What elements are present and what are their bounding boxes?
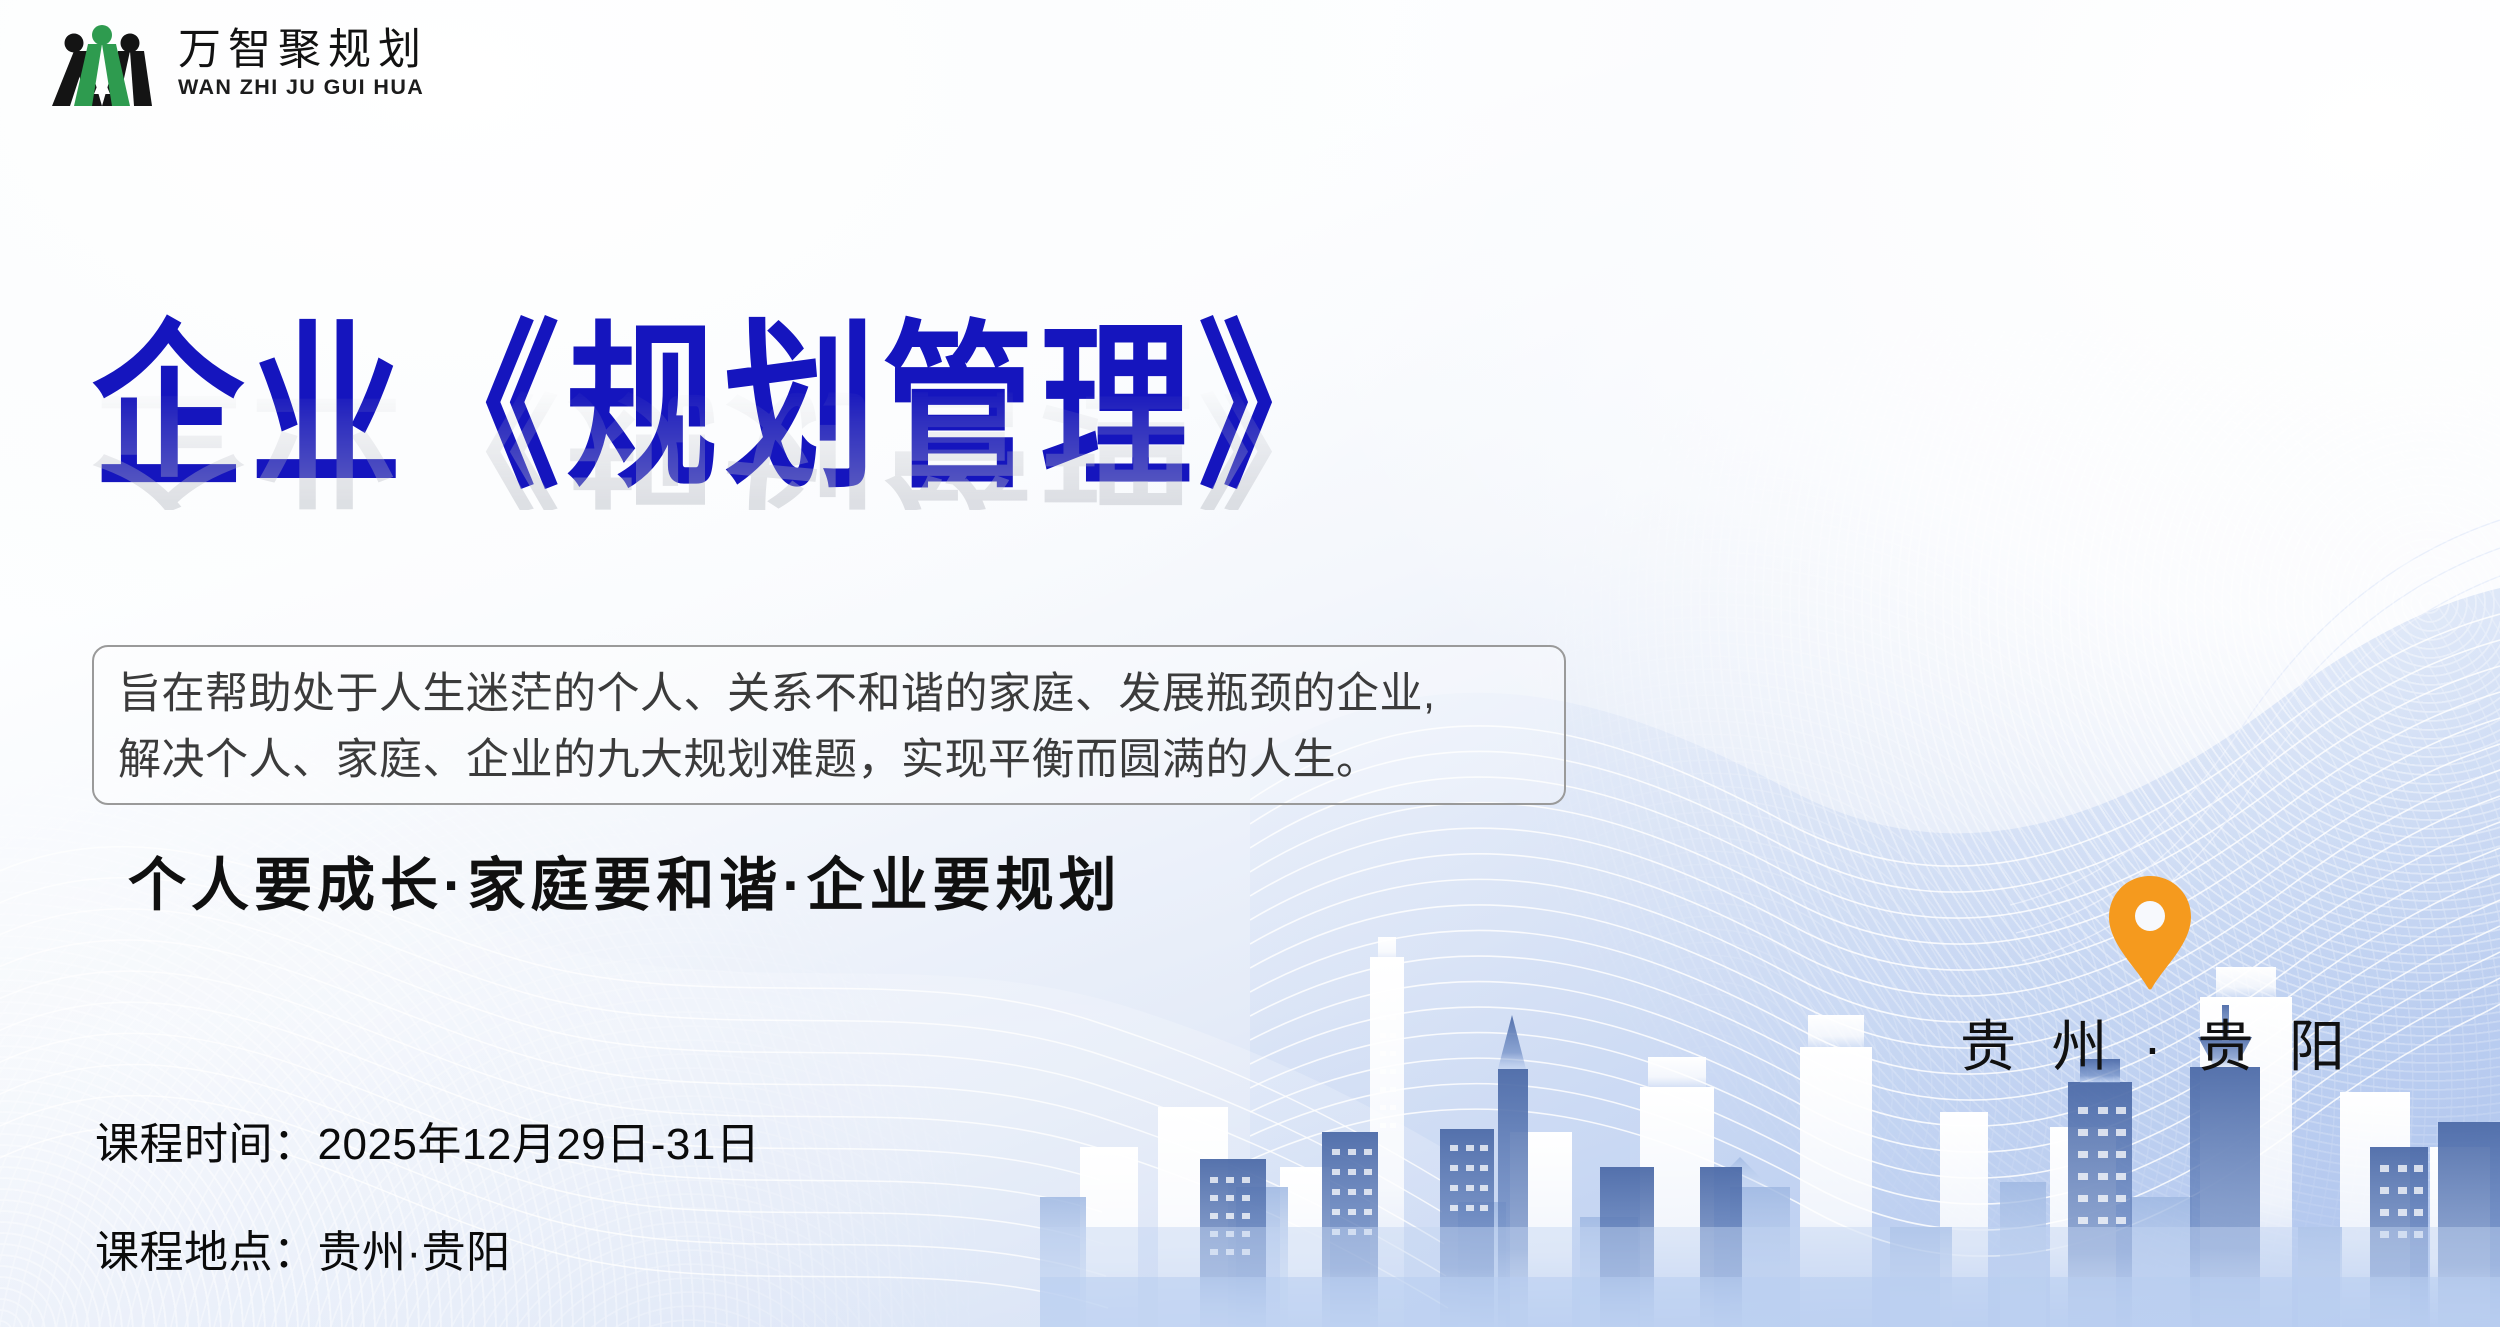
three-people-logo-icon [44,18,160,110]
slogan-text: 个人要成长·家庭要和谐·企业要规划 [128,838,1122,922]
location-label: 贵 州 · 贵 阳 [1960,1002,2340,1083]
brand-logo[interactable]: 万智聚规划 WAN ZHI JU GUI HUA [44,18,428,110]
description-box: 旨在帮助处于人生迷茫的个人、关系不和谐的家庭、发展瓶颈的企业, 解决个人、家庭、… [92,645,1566,805]
brand-name-pinyin: WAN ZHI JU GUI HUA [178,76,428,100]
course-time: 课程时间：2025年12月29日-31日 [95,1108,760,1172]
poster-canvas: 万智聚规划 WAN ZHI JU GUI HUA 企业《规划管理》 企业《规划管… [0,0,2500,1327]
page-title: 企业《规划管理》 [92,318,1692,501]
location-block: 贵 州 · 贵 阳 [1960,872,2340,1083]
description-line-2: 解决个人、家庭、企业的九大规划难题，实现平衡而圆满的人生。 [118,727,1538,793]
map-pin-icon [2103,872,2197,992]
brand-name-cn: 万智聚规划 [178,28,428,74]
hero-title-block: 企业《规划管理》 企业《规划管理》 [92,318,1692,473]
course-info-block: 课程时间：2025年12月29日-31日 课程地点：贵州·贵阳 [95,1108,760,1280]
course-place: 课程地点：贵州·贵阳 [95,1216,760,1280]
brand-wordmark: 万智聚规划 WAN ZHI JU GUI HUA [178,28,428,99]
description-line-1: 旨在帮助处于人生迷茫的个人、关系不和谐的家庭、发展瓶颈的企业, [118,661,1538,727]
